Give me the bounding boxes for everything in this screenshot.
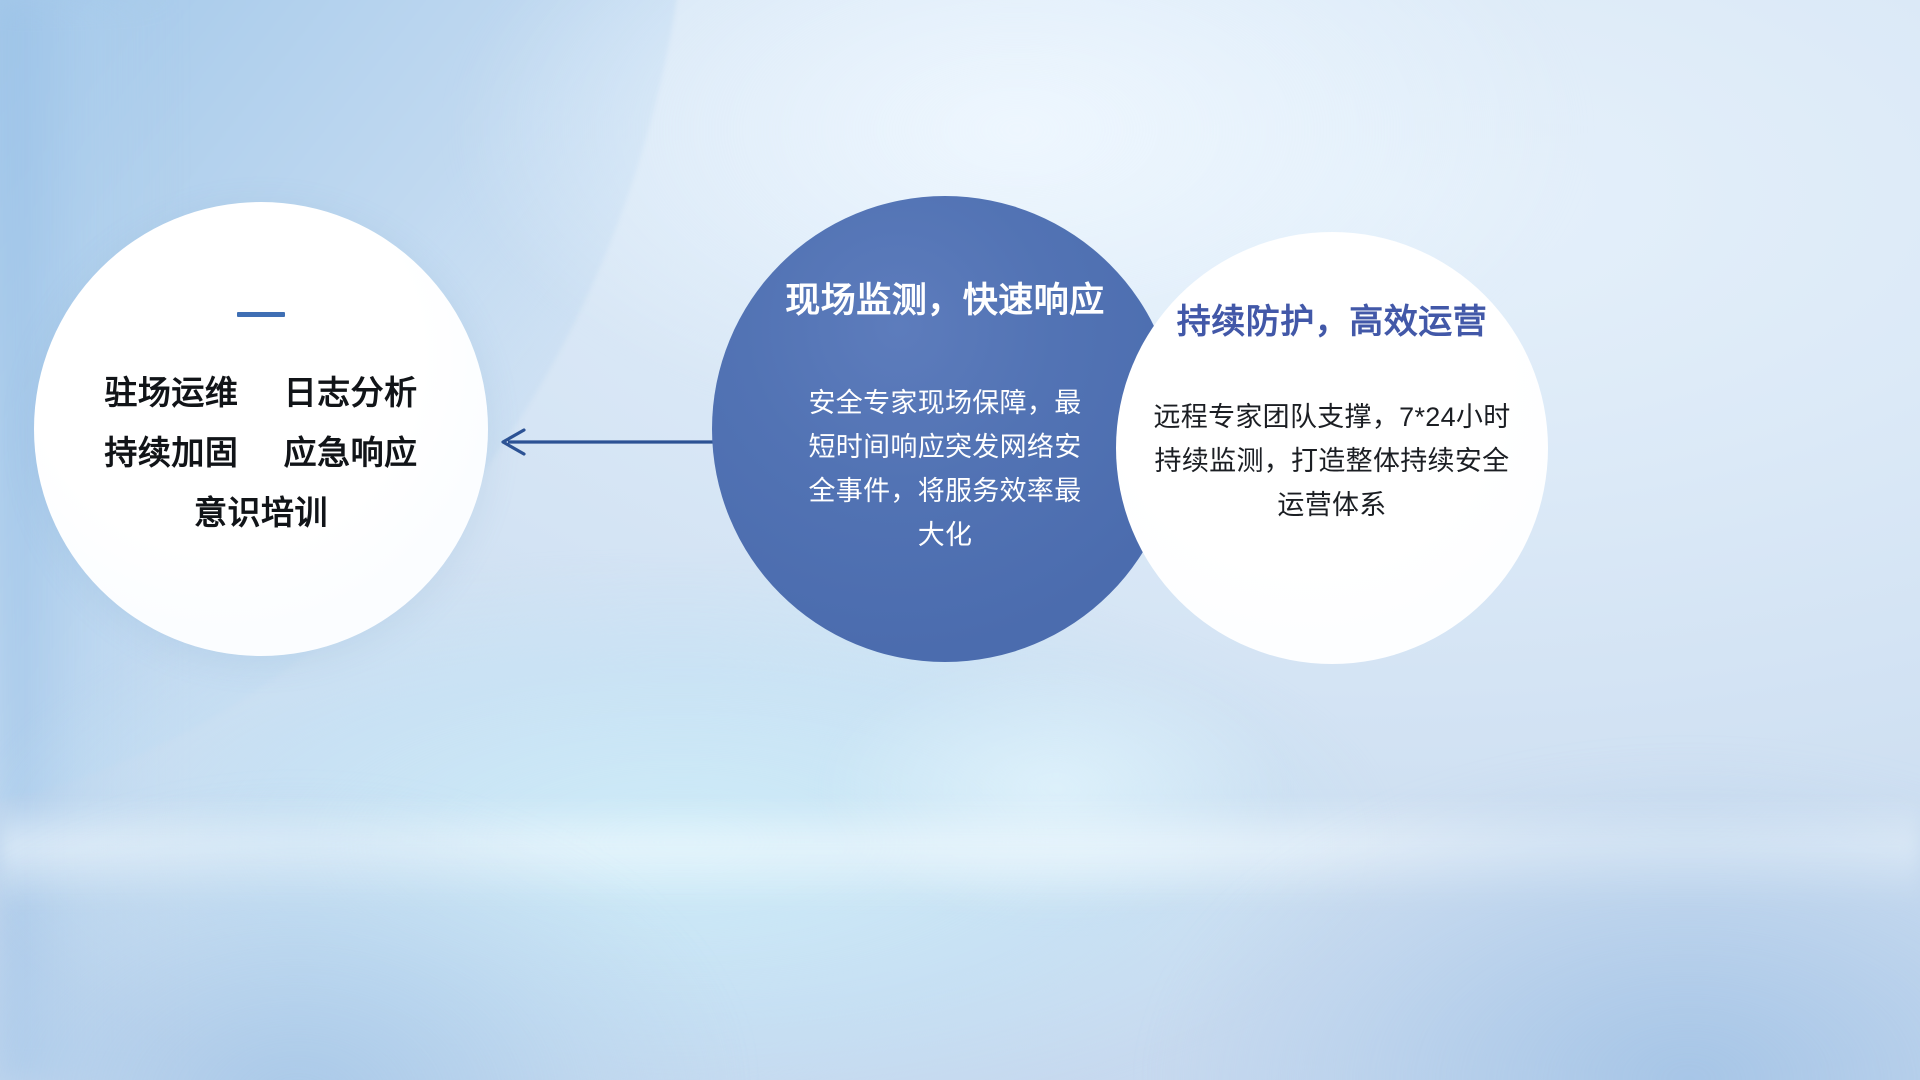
keyword-label: 日志分析 — [284, 374, 418, 411]
background-glow-bottom-right — [998, 691, 1920, 1080]
keyword-label: 持续加固 — [104, 434, 238, 471]
middle-circle-content: 现场监测，快速响应 安全专家现场保障，最短时间响应突发网络安全事件，将服务效率最… — [712, 196, 1178, 662]
divider-dash — [237, 312, 285, 317]
middle-circle-body: 安全专家现场保障，最短时间响应突发网络安全事件，将服务效率最大化 — [795, 381, 1095, 557]
keyword-label: 驻场运维 — [104, 374, 238, 411]
right-circle-card[interactable]: 持续防护，高效运营 远程专家团队支撑，7*24小时持续监测，打造整体持续安全运营… — [1116, 232, 1548, 664]
list-item: 持续加固 应急响应 — [104, 423, 417, 483]
right-circle-body: 远程专家团队支撑，7*24小时持续监测，打造整体持续安全运营体系 — [1146, 395, 1518, 527]
list-item: 意识培训 — [104, 483, 417, 543]
list-item: 驻场运维 日志分析 — [104, 363, 417, 423]
middle-circle-title: 现场监测，快速响应 — [785, 272, 1105, 323]
keyword-label: 应急响应 — [284, 434, 418, 471]
left-circle-card[interactable]: 驻场运维 日志分析 持续加固 应急响应 意识培训 — [34, 202, 488, 656]
left-circle-content: 驻场运维 日志分析 持续加固 应急响应 意识培训 — [34, 202, 488, 656]
middle-circle-card[interactable]: 现场监测，快速响应 安全专家现场保障，最短时间响应突发网络安全事件，将服务效率最… — [712, 196, 1178, 662]
right-circle-content: 持续防护，高效运营 远程专家团队支撑，7*24小时持续监测，打造整体持续安全运营… — [1116, 232, 1548, 664]
keyword-label: 意识培训 — [194, 494, 328, 531]
background-glow-bottom-left — [0, 778, 730, 1080]
left-circle-keyword-list: 驻场运维 日志分析 持续加固 应急响应 意识培训 — [104, 363, 417, 543]
right-circle-title: 持续防护，高效运营 — [1177, 294, 1488, 343]
